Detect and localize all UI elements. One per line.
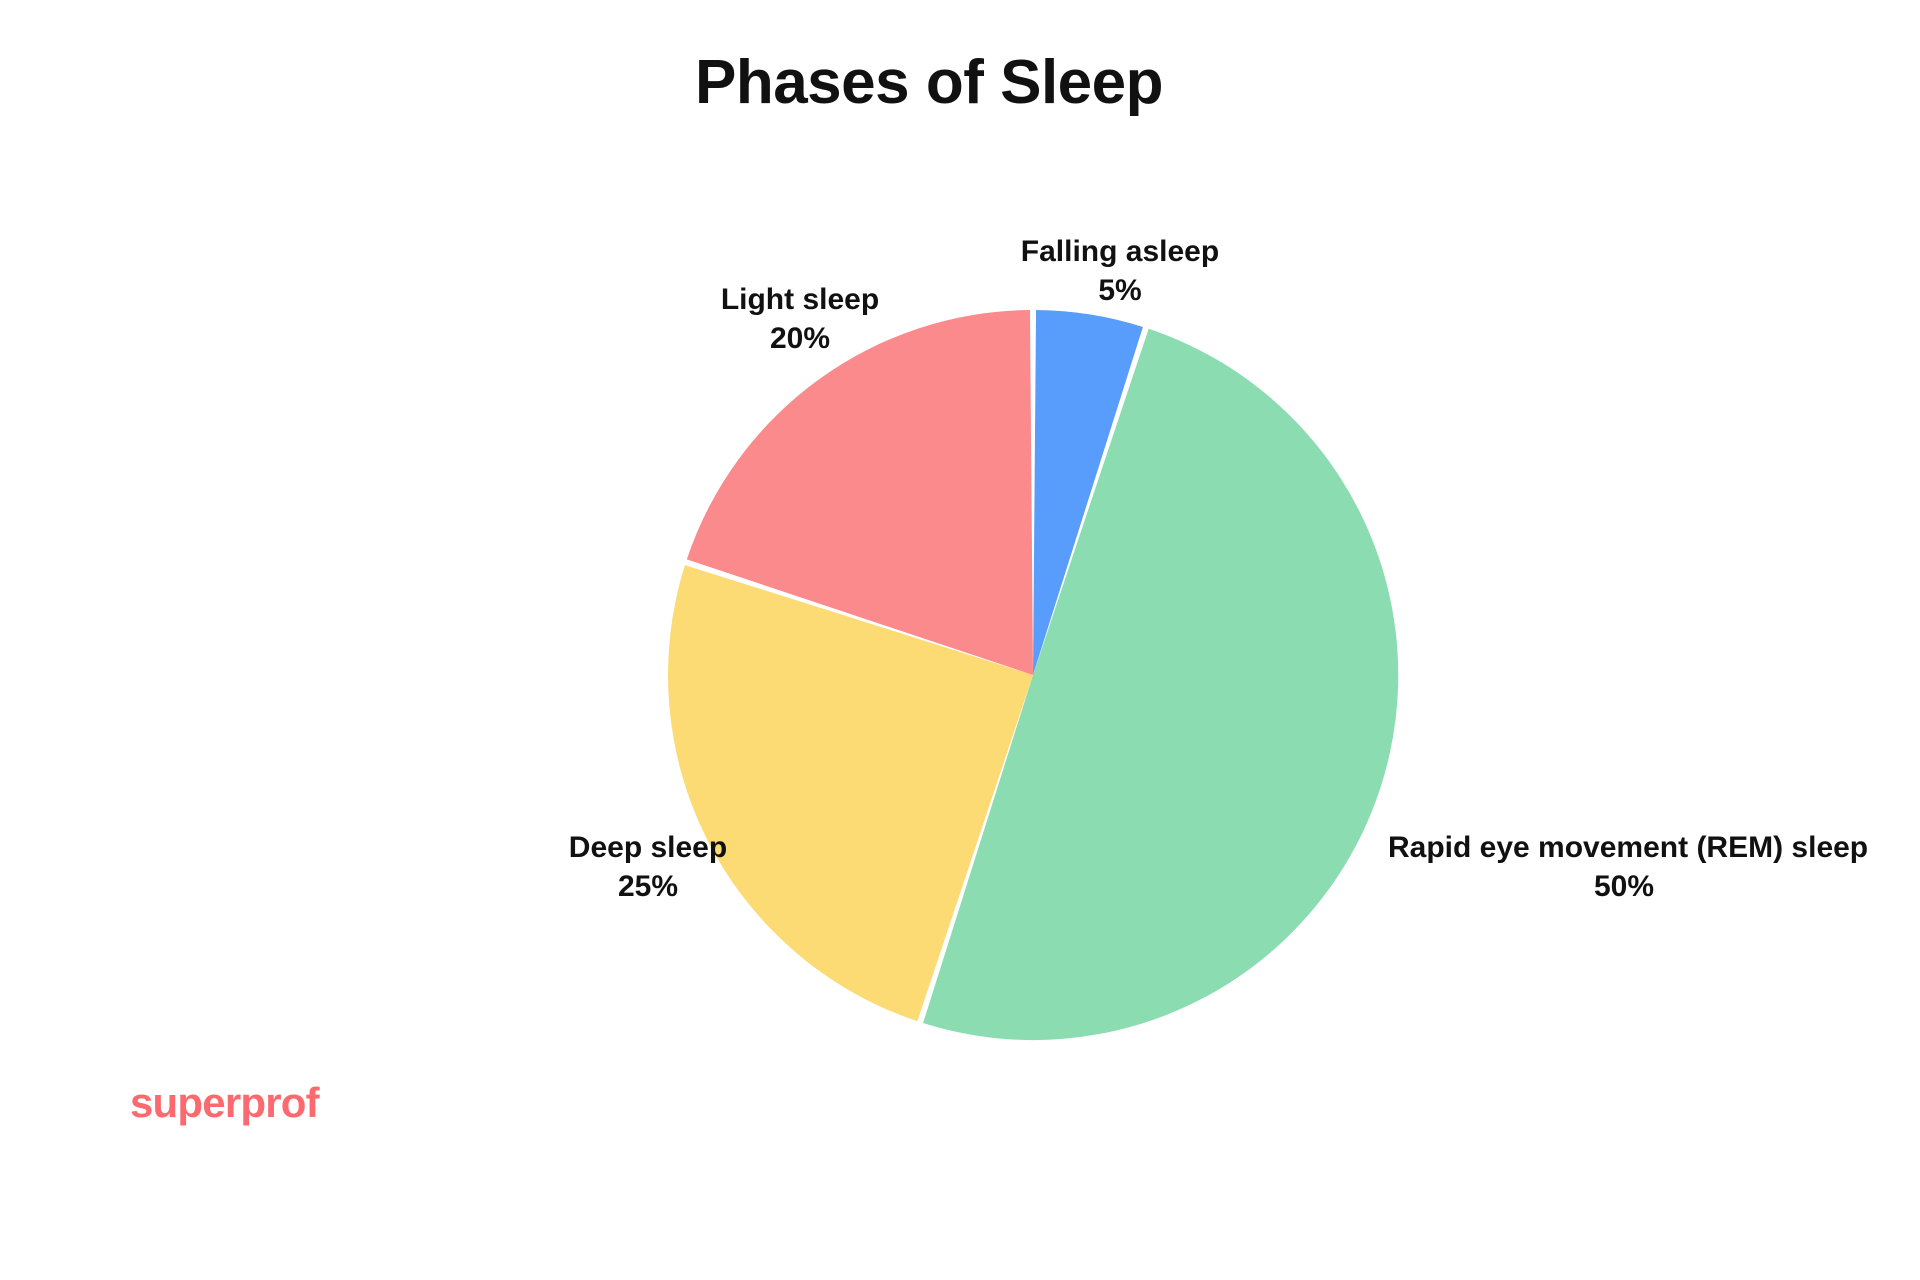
pie-chart-canvas	[668, 310, 1398, 1040]
pie-label-rem-sleep-name: Rapid eye movement (REM) sleep	[1388, 828, 1860, 867]
pie-chart-figure: Phases of Sleep Falling asleep 5% Light …	[0, 0, 1920, 1280]
pie-label-light-sleep-name: Light sleep	[690, 280, 910, 319]
pie-label-rem-sleep-value: 50%	[1388, 867, 1860, 906]
pie-slices	[668, 310, 1398, 1040]
pie-label-deep-sleep-name: Deep sleep	[538, 828, 758, 867]
pie-label-falling-asleep-value: 5%	[1010, 271, 1230, 310]
superprof-logo: superprof	[130, 1082, 319, 1124]
pie-label-rem-sleep: Rapid eye movement (REM) sleep 50%	[1388, 828, 1860, 906]
pie-label-falling-asleep-name: Falling asleep	[1010, 232, 1230, 271]
pie-label-light-sleep: Light sleep 20%	[690, 280, 910, 358]
pie-svg	[668, 310, 1398, 1040]
pie-label-falling-asleep: Falling asleep 5%	[1010, 232, 1230, 310]
pie-label-deep-sleep: Deep sleep 25%	[538, 828, 758, 906]
pie-label-deep-sleep-value: 25%	[538, 867, 758, 906]
chart-title: Phases of Sleep	[0, 52, 1889, 114]
pie-label-light-sleep-value: 20%	[690, 319, 910, 358]
